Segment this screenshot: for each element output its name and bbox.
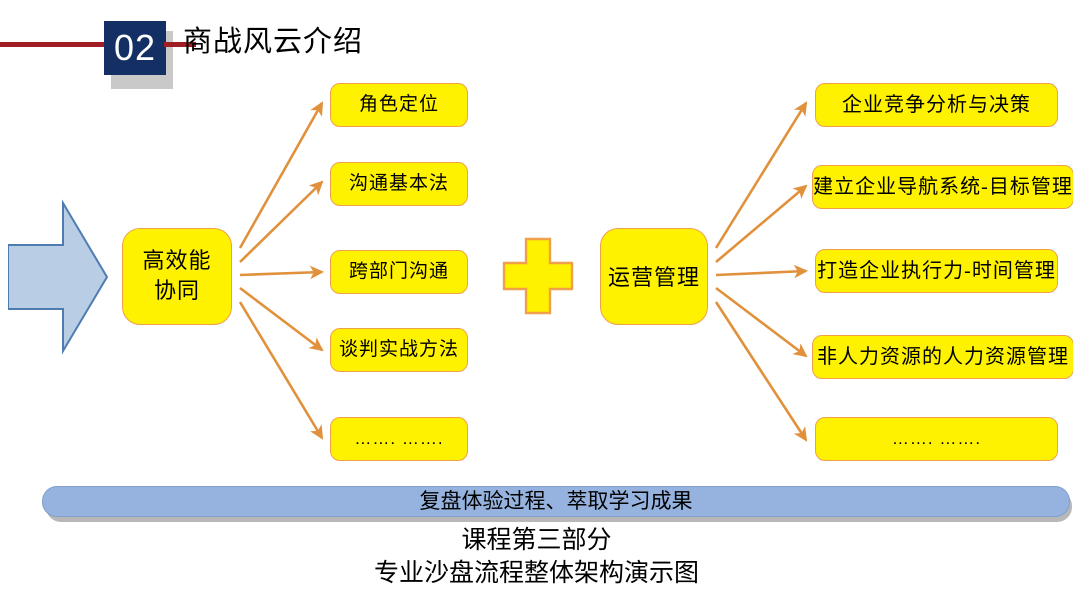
node-main-line-2: 协同 xyxy=(123,276,231,306)
header-section-number-badge: 02 xyxy=(104,21,166,75)
page-title: 商战风云介绍 xyxy=(183,22,363,62)
left-item-1[interactable]: 角色定位 xyxy=(330,83,468,127)
node-main-line-1: 高效能 xyxy=(123,246,231,276)
caption-course-part: 课程第三部分 xyxy=(0,525,1073,557)
caption-diagram-title: 专业沙盘流程整体架构演示图 xyxy=(0,558,1073,590)
left-item-4[interactable]: 谈判实战方法 xyxy=(330,328,468,372)
left-item-3[interactable]: 跨部门沟通 xyxy=(330,250,468,294)
node-high-performance-collaboration[interactable]: 高效能 协同 xyxy=(122,228,232,325)
right-item-2[interactable]: 建立企业导航系统-目标管理 xyxy=(812,165,1073,209)
right-item-4[interactable]: 非人力资源的人力资源管理 xyxy=(812,335,1073,379)
node-operations-management[interactable]: 运营管理 xyxy=(600,228,708,325)
right-item-5[interactable]: ……. ……. xyxy=(815,417,1058,461)
slide-canvas: 02 商战风云介绍 高效能 协同 xyxy=(0,0,1073,602)
right-item-1[interactable]: 企业竞争分析与决策 xyxy=(815,83,1058,127)
left-item-5[interactable]: ……. ……. xyxy=(330,417,468,461)
plus-symbol-icon xyxy=(502,237,574,315)
right-item-3[interactable]: 打造企业执行力-时间管理 xyxy=(815,249,1058,293)
process-entry-arrow xyxy=(8,193,108,361)
summary-bar[interactable]: 复盘体验过程、萃取学习成果 xyxy=(42,486,1070,517)
left-item-2[interactable]: 沟通基本法 xyxy=(330,162,468,206)
